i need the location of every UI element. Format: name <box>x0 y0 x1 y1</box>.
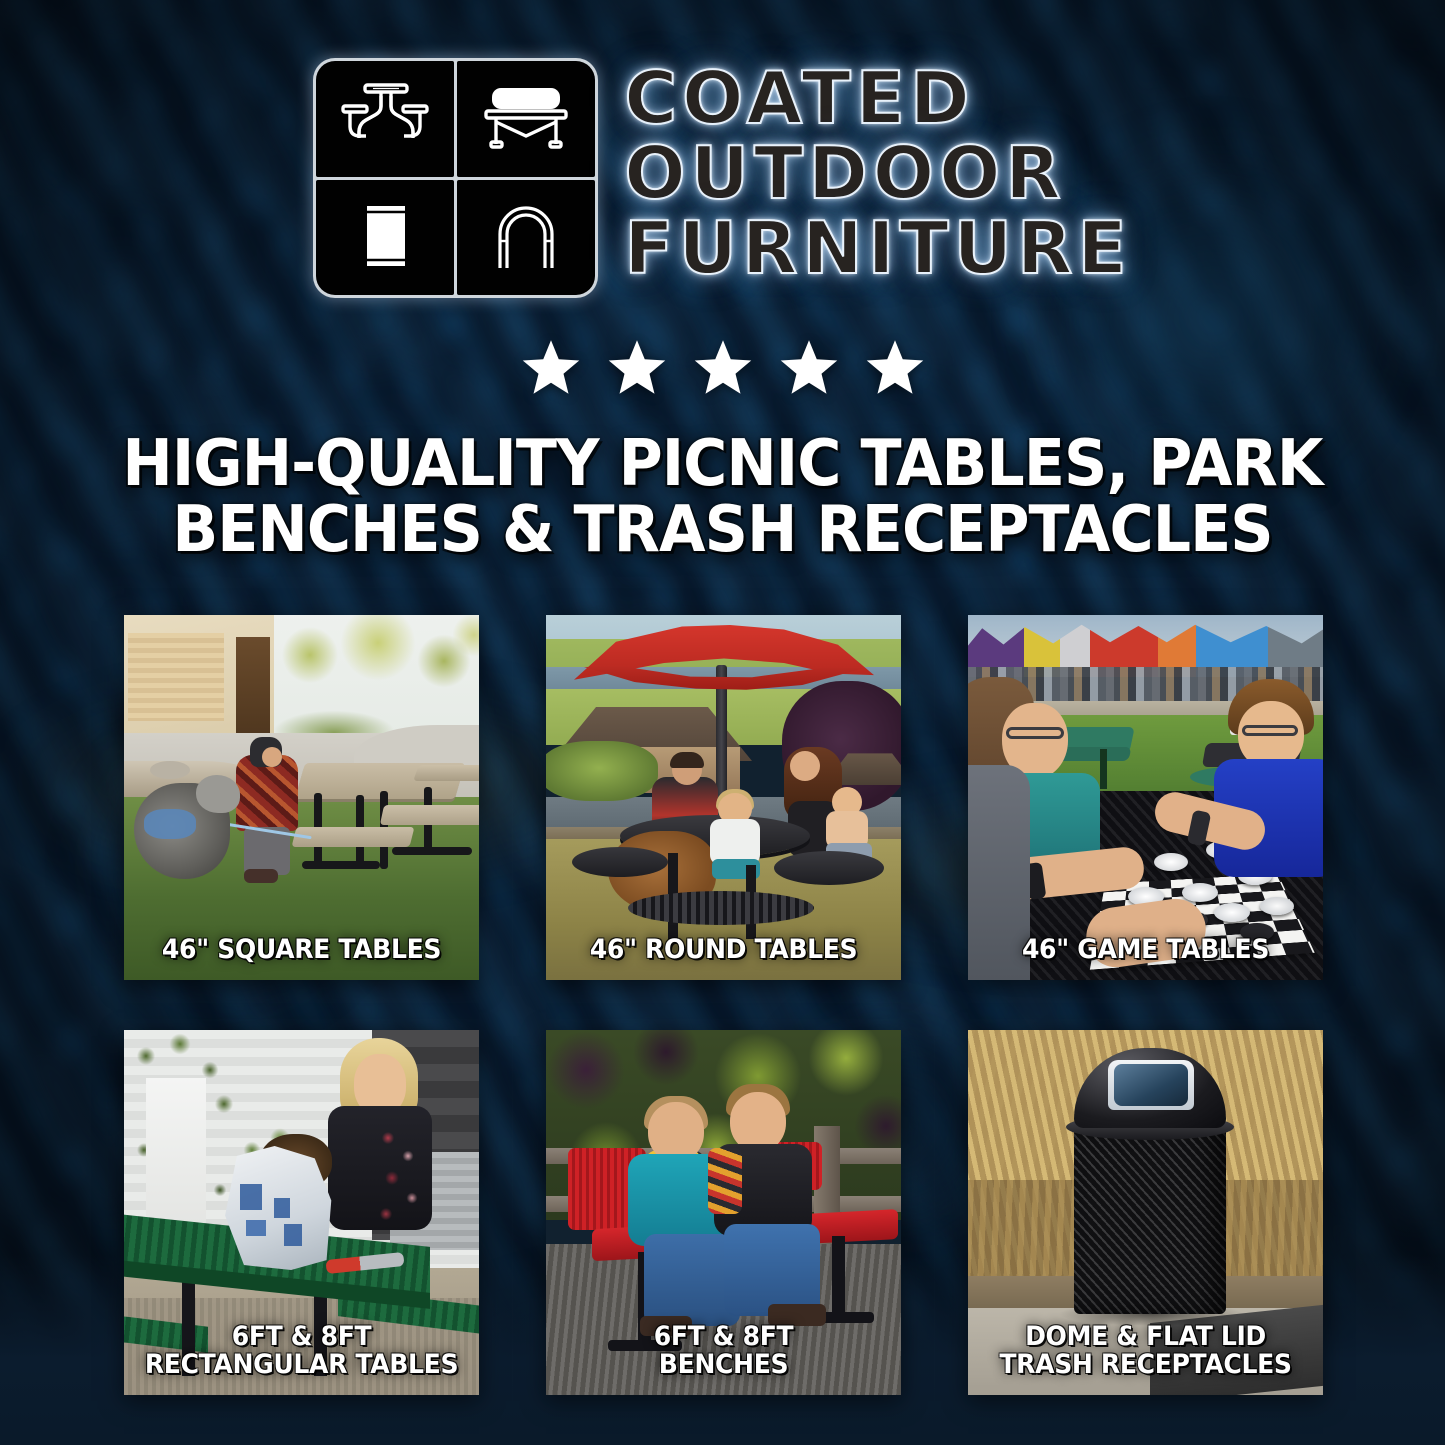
poster-content: COATED OUTDOOR FURNITURE HIGH-QUALITY PI… <box>0 0 1445 1445</box>
headline: HIGH-QUALITY PICNIC TABLES, PARK BENCHES… <box>109 432 1336 564</box>
brand-name-line-2: OUTDOOR <box>624 139 1065 208</box>
product-card-square-tables[interactable]: 46" SQUARE TABLES <box>124 615 479 980</box>
star-icon <box>778 338 840 398</box>
caption-line-1: DOME & FLAT LID <box>986 1323 1305 1351</box>
product-caption: 46" GAME TABLES <box>986 936 1305 964</box>
product-caption: 6FT & 8FT RECTANGULAR TABLES <box>142 1323 461 1379</box>
star-icon <box>520 338 582 398</box>
caption-line-2: BENCHES <box>564 1351 883 1379</box>
promo-poster: COATED OUTDOOR FURNITURE HIGH-QUALITY PI… <box>0 0 1445 1445</box>
caption-line-2: TRASH RECEPTACLES <box>986 1351 1305 1379</box>
headline-line-2: BENCHES & TRASH RECEPTACLES <box>109 498 1336 564</box>
product-photo-square-tables <box>124 615 479 980</box>
product-photo-round-tables <box>546 615 901 980</box>
trash-receptacle-icon <box>316 180 454 296</box>
product-grid: 46" SQUARE TABLES <box>124 615 1324 1395</box>
product-caption: 6FT & 8FT BENCHES <box>564 1323 883 1379</box>
caption-line-1: 6FT & 8FT <box>142 1323 461 1351</box>
brand-logo: COATED OUTDOOR FURNITURE <box>0 58 1445 298</box>
product-card-trash-receptacles[interactable]: DOME & FLAT LID TRASH RECEPTACLES <box>968 1030 1323 1395</box>
picnic-table-icon <box>316 61 454 177</box>
bench-table-icon <box>457 61 595 177</box>
logo-icon-grid <box>313 58 598 298</box>
headline-line-1: HIGH-QUALITY PICNIC TABLES, PARK <box>122 427 1322 501</box>
product-card-game-tables[interactable]: 46" GAME TABLES <box>968 615 1323 980</box>
caption-line-1: 6FT & 8FT <box>564 1323 883 1351</box>
star-rating <box>0 338 1445 398</box>
product-photo-game-tables <box>968 615 1323 980</box>
product-card-benches[interactable]: 6FT & 8FT BENCHES <box>546 1030 901 1395</box>
bike-rack-arch-icon <box>457 180 595 296</box>
product-card-rectangular-tables[interactable]: 6FT & 8FT RECTANGULAR TABLES <box>124 1030 479 1395</box>
product-caption: 46" SQUARE TABLES <box>142 936 461 964</box>
caption-line-2: RECTANGULAR TABLES <box>142 1351 461 1379</box>
caption-line-1: 46" GAME TABLES <box>986 936 1305 964</box>
star-icon <box>606 338 668 398</box>
star-icon <box>864 338 926 398</box>
brand-wordmark: COATED OUTDOOR FURNITURE <box>624 58 1131 283</box>
star-icon <box>692 338 754 398</box>
caption-line-1: 46" SQUARE TABLES <box>142 936 461 964</box>
brand-name-line-1: COATED <box>624 64 974 133</box>
product-caption: 46" ROUND TABLES <box>564 936 883 964</box>
product-caption: DOME & FLAT LID TRASH RECEPTACLES <box>986 1323 1305 1379</box>
product-card-round-tables[interactable]: 46" ROUND TABLES <box>546 615 901 980</box>
brand-name-line-3: FURNITURE <box>624 214 1131 283</box>
caption-line-1: 46" ROUND TABLES <box>564 936 883 964</box>
